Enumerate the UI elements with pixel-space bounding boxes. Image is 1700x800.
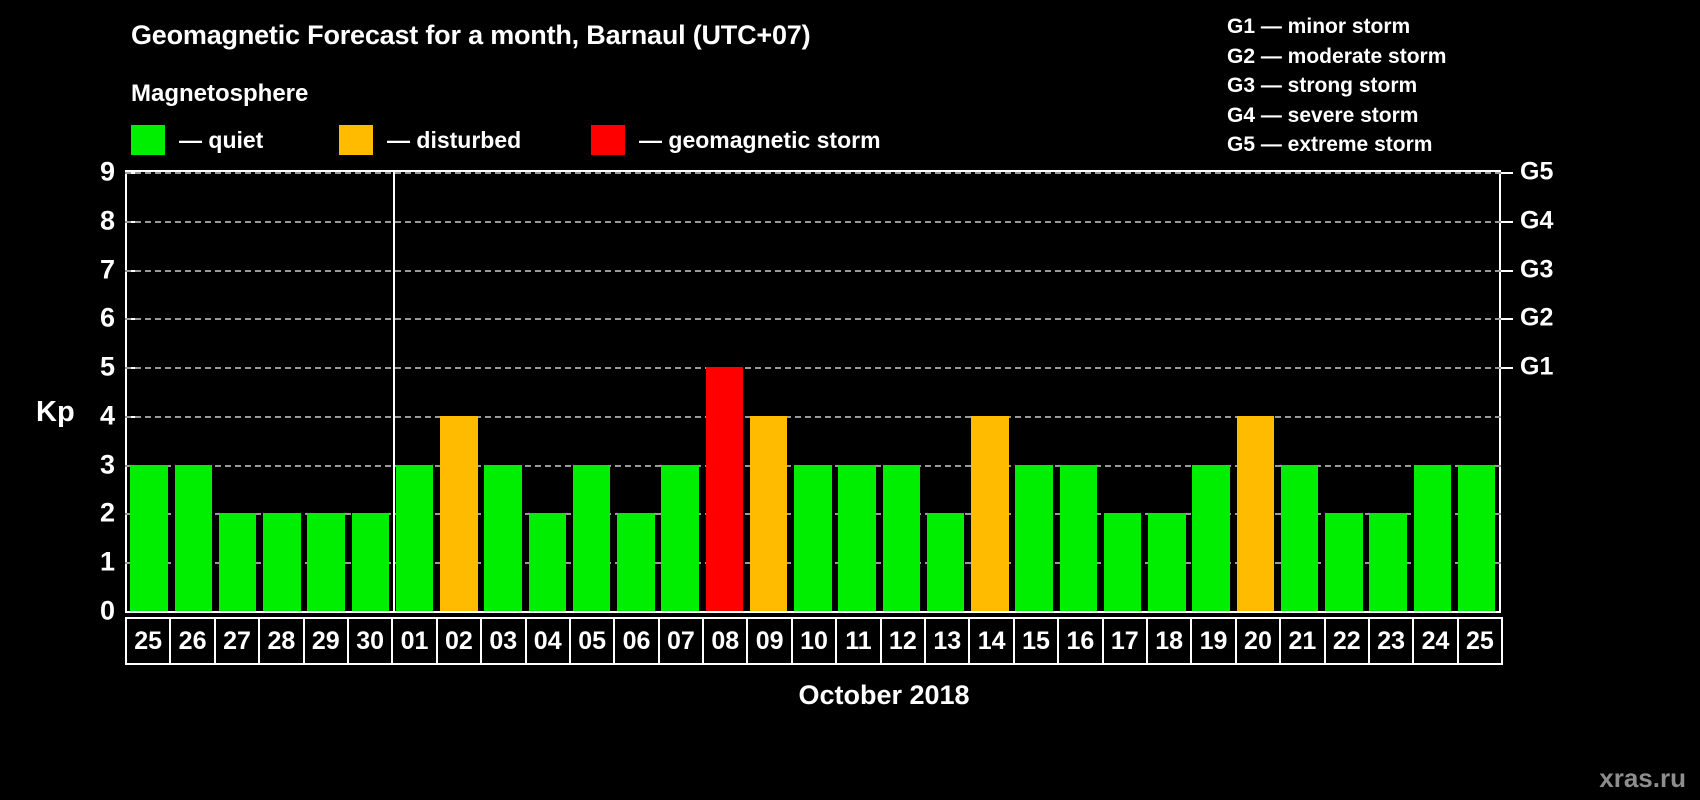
bar-slot-19 bbox=[1189, 172, 1233, 611]
bar-24-kp-3 bbox=[1414, 465, 1452, 611]
date-cell-09: 09 bbox=[746, 617, 792, 665]
bar-slot-03 bbox=[481, 172, 525, 611]
bar-slot-21 bbox=[1278, 172, 1322, 611]
bar-series bbox=[127, 172, 1499, 611]
bar-25-kp-3 bbox=[130, 465, 168, 611]
g-tick-label-G4: G4 bbox=[1520, 206, 1553, 235]
date-cell-19: 19 bbox=[1190, 617, 1236, 665]
bar-13-kp-2 bbox=[927, 513, 965, 611]
bar-slot-18 bbox=[1145, 172, 1189, 611]
x-axis-label: October 2018 bbox=[798, 680, 969, 711]
bar-09-kp-4 bbox=[750, 416, 788, 611]
date-cell-29: 29 bbox=[303, 617, 349, 665]
bar-16-kp-3 bbox=[1060, 465, 1098, 611]
watermark: xras.ru bbox=[1599, 763, 1686, 794]
g-tick-mark-G5 bbox=[1501, 172, 1513, 174]
legend-item-disturbed: — disturbed bbox=[339, 124, 521, 156]
bar-slot-09 bbox=[747, 172, 791, 611]
bar-28-kp-2 bbox=[263, 513, 301, 611]
y-tick-label-2: 2 bbox=[75, 498, 115, 529]
legend-label-quiet: — quiet bbox=[179, 127, 263, 154]
legend-item-geomagnetic-storm: — geomagnetic storm bbox=[591, 124, 881, 156]
bar-11-kp-3 bbox=[838, 465, 876, 611]
bar-slot-25 bbox=[1455, 172, 1499, 611]
date-cell-26: 26 bbox=[169, 617, 215, 665]
y-tick-label-6: 6 bbox=[75, 303, 115, 334]
g-tick-mark-G1 bbox=[1501, 367, 1513, 369]
bar-22-kp-2 bbox=[1325, 513, 1363, 611]
bar-15-kp-3 bbox=[1015, 465, 1053, 611]
bar-slot-25 bbox=[127, 172, 171, 611]
y-tick-label-3: 3 bbox=[75, 449, 115, 480]
bar-slot-14 bbox=[968, 172, 1012, 611]
bar-slot-06 bbox=[614, 172, 658, 611]
date-cell-15: 15 bbox=[1013, 617, 1059, 665]
date-cell-28: 28 bbox=[258, 617, 304, 665]
g-scale-key: G1 — minor stormG2 — moderate stormG3 — … bbox=[1227, 12, 1446, 160]
y-tick-label-8: 8 bbox=[75, 205, 115, 236]
g-scale-key-row-3: G3 — strong storm bbox=[1227, 71, 1446, 101]
y-axis-label: Kp bbox=[36, 396, 75, 429]
bar-slot-28 bbox=[260, 172, 304, 611]
date-cell-18: 18 bbox=[1146, 617, 1192, 665]
date-axis: 2526272829300102030405060708091011121314… bbox=[125, 617, 1501, 665]
bar-slot-26 bbox=[171, 172, 215, 611]
date-cell-06: 06 bbox=[613, 617, 659, 665]
bar-27-kp-2 bbox=[219, 513, 257, 611]
g-scale-key-row-1: G1 — minor storm bbox=[1227, 12, 1446, 42]
date-cell-10: 10 bbox=[791, 617, 837, 665]
g-scale-key-row-4: G4 — severe storm bbox=[1227, 101, 1446, 131]
bar-slot-05 bbox=[570, 172, 614, 611]
date-cell-24: 24 bbox=[1412, 617, 1458, 665]
bar-06-kp-2 bbox=[617, 513, 655, 611]
date-cell-05: 05 bbox=[569, 617, 615, 665]
date-cell-12: 12 bbox=[880, 617, 926, 665]
bar-slot-22 bbox=[1322, 172, 1366, 611]
bar-slot-11 bbox=[835, 172, 879, 611]
date-cell-07: 07 bbox=[658, 617, 704, 665]
y-tick-label-4: 4 bbox=[75, 400, 115, 431]
bar-17-kp-2 bbox=[1104, 513, 1142, 611]
date-cell-23: 23 bbox=[1368, 617, 1414, 665]
bar-slot-17 bbox=[1101, 172, 1145, 611]
bar-slot-23 bbox=[1366, 172, 1410, 611]
bar-14-kp-4 bbox=[971, 416, 1009, 611]
bar-12-kp-3 bbox=[883, 465, 921, 611]
y-tick-label-7: 7 bbox=[75, 254, 115, 285]
bar-25-kp-3 bbox=[1458, 465, 1496, 611]
y-tick-label-0: 0 bbox=[75, 596, 115, 627]
date-cell-04: 04 bbox=[525, 617, 571, 665]
bar-18-kp-2 bbox=[1148, 513, 1186, 611]
bar-29-kp-2 bbox=[307, 513, 345, 611]
date-cell-20: 20 bbox=[1235, 617, 1281, 665]
bar-slot-16 bbox=[1056, 172, 1100, 611]
bar-slot-20 bbox=[1233, 172, 1277, 611]
date-cell-21: 21 bbox=[1279, 617, 1325, 665]
geomagnetic-forecast-chart: Geomagnetic Forecast for a month, Barnau… bbox=[0, 0, 1700, 800]
bar-slot-10 bbox=[791, 172, 835, 611]
date-cell-14: 14 bbox=[968, 617, 1014, 665]
g-tick-label-G5: G5 bbox=[1520, 158, 1553, 187]
date-cell-01: 01 bbox=[391, 617, 437, 665]
bar-08-kp-5 bbox=[706, 367, 744, 611]
y-tick-label-5: 5 bbox=[75, 352, 115, 383]
bar-23-kp-2 bbox=[1369, 513, 1407, 611]
legend-swatch-geomagnetic-storm bbox=[591, 125, 625, 155]
bar-01-kp-3 bbox=[396, 465, 434, 611]
bar-19-kp-3 bbox=[1192, 465, 1230, 611]
bar-slot-02 bbox=[437, 172, 481, 611]
g-tick-label-G1: G1 bbox=[1520, 353, 1553, 382]
bar-slot-30 bbox=[348, 172, 392, 611]
bar-02-kp-4 bbox=[440, 416, 478, 611]
bar-21-kp-3 bbox=[1281, 465, 1319, 611]
legend-item-quiet: — quiet bbox=[131, 124, 263, 156]
legend-label-disturbed: — disturbed bbox=[387, 127, 521, 154]
date-cell-08: 08 bbox=[702, 617, 748, 665]
date-cell-22: 22 bbox=[1324, 617, 1370, 665]
bar-30-kp-2 bbox=[352, 513, 390, 611]
date-cell-11: 11 bbox=[835, 617, 881, 665]
date-cell-30: 30 bbox=[347, 617, 393, 665]
month-separator-line bbox=[393, 170, 395, 613]
date-cell-17: 17 bbox=[1102, 617, 1148, 665]
g-scale-key-row-2: G2 — moderate storm bbox=[1227, 42, 1446, 72]
bar-slot-24 bbox=[1410, 172, 1454, 611]
date-cell-03: 03 bbox=[480, 617, 526, 665]
bar-slot-04 bbox=[525, 172, 569, 611]
date-cell-25: 25 bbox=[1457, 617, 1503, 665]
g-tick-mark-G2 bbox=[1501, 318, 1513, 320]
y-tick-label-1: 1 bbox=[75, 547, 115, 578]
g-tick-label-G3: G3 bbox=[1520, 255, 1553, 284]
x-axis-label-wrap: October 2018 bbox=[0, 680, 1700, 711]
g-tick-mark-G4 bbox=[1501, 221, 1513, 223]
y-tick-label-9: 9 bbox=[75, 157, 115, 188]
bar-10-kp-3 bbox=[794, 465, 832, 611]
bar-slot-29 bbox=[304, 172, 348, 611]
bar-slot-12 bbox=[879, 172, 923, 611]
bar-slot-01 bbox=[393, 172, 437, 611]
bar-slot-13 bbox=[924, 172, 968, 611]
bar-slot-08 bbox=[702, 172, 746, 611]
bar-03-kp-3 bbox=[484, 465, 522, 611]
page-title: Geomagnetic Forecast for a month, Barnau… bbox=[131, 20, 810, 51]
bar-26-kp-3 bbox=[175, 465, 213, 611]
legend-swatch-quiet bbox=[131, 125, 165, 155]
g-tick-label-G2: G2 bbox=[1520, 304, 1553, 333]
date-cell-16: 16 bbox=[1057, 617, 1103, 665]
date-cell-25: 25 bbox=[125, 617, 171, 665]
plot-area bbox=[125, 170, 1501, 613]
bar-04-kp-2 bbox=[529, 513, 567, 611]
date-cell-13: 13 bbox=[924, 617, 970, 665]
bar-07-kp-3 bbox=[661, 465, 699, 611]
legend-label-geomagnetic-storm: — geomagnetic storm bbox=[639, 127, 881, 154]
g-tick-mark-G3 bbox=[1501, 270, 1513, 272]
legend-swatch-disturbed bbox=[339, 125, 373, 155]
bar-20-kp-4 bbox=[1237, 416, 1275, 611]
legend-heading: Magnetosphere bbox=[131, 80, 308, 108]
date-cell-27: 27 bbox=[214, 617, 260, 665]
bar-slot-27 bbox=[216, 172, 260, 611]
g-scale-key-row-5: G5 — extreme storm bbox=[1227, 130, 1446, 160]
bar-slot-15 bbox=[1012, 172, 1056, 611]
date-cell-02: 02 bbox=[436, 617, 482, 665]
bar-05-kp-3 bbox=[573, 465, 611, 611]
bar-slot-07 bbox=[658, 172, 702, 611]
